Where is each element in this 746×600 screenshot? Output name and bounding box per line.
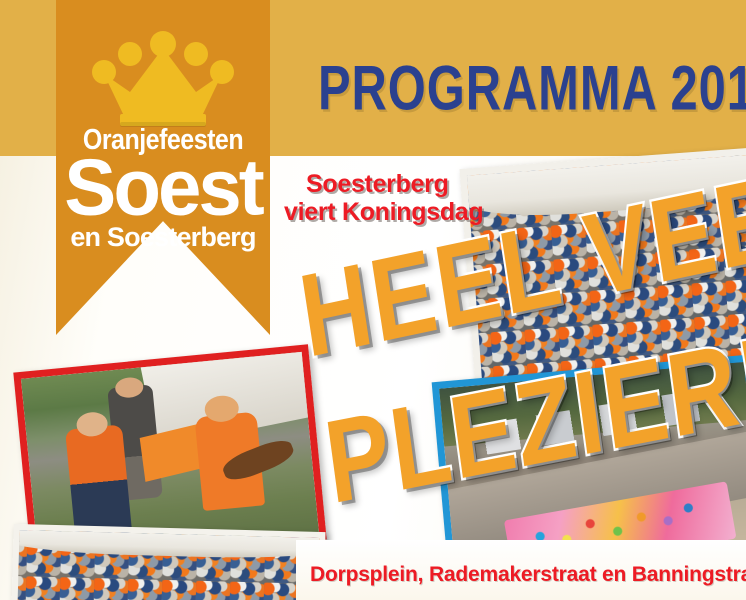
page-title: PROGRAMMA 2019 [318,52,746,125]
logo-block: Oranjefeesten Soest en Soesterberg [56,0,270,335]
crown-icon [84,30,242,135]
photo-crowd-bottom-left [10,524,325,600]
logo-line-soesterberg: en Soesterberg [56,222,270,253]
poster-root: Oranjefeesten Soest en Soesterberg PROGR… [0,0,746,600]
photo-crowd-bottom-left-image [17,530,320,600]
logo-line-soest: Soest [56,147,270,227]
subtitle-line-1: Soesterberg [306,170,449,198]
footer-address: Dorpsplein, Rademakerstraat en Banningst… [310,563,746,587]
